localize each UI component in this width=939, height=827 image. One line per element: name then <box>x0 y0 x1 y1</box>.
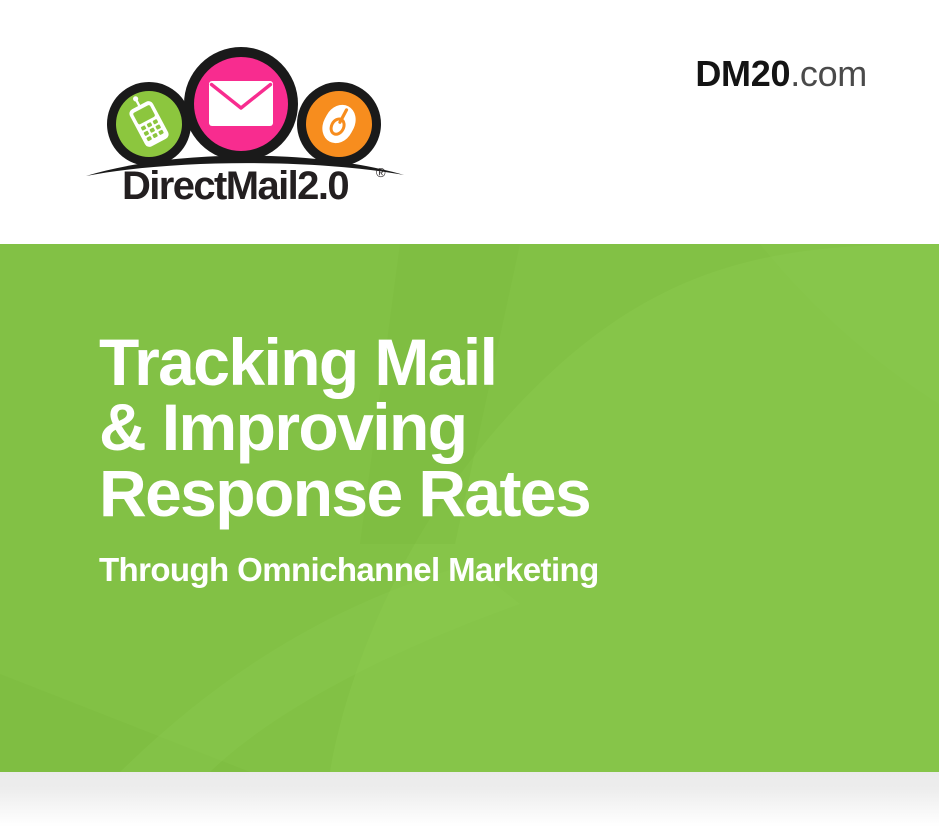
hero-title-line-2: & Improving <box>99 395 859 460</box>
footer-band <box>0 772 939 827</box>
directmail20-logo[interactable]: DirectMail2.0 ® <box>84 32 406 202</box>
hero-title-line-1: Tracking Mail <box>99 330 859 395</box>
mobile-phone-icon <box>107 82 191 166</box>
hero-title: Tracking Mail & Improving Response Rates <box>99 330 859 526</box>
hero-content: Tracking Mail & Improving Response Rates… <box>99 330 859 588</box>
logo-registered-mark: ® <box>376 165 386 180</box>
dm20-brand-light: .com <box>790 53 867 94</box>
dm20-brand-strong: DM20 <box>695 53 790 94</box>
envelope-icon <box>184 47 298 161</box>
page-header: DirectMail2.0 ® DM20.com <box>0 0 939 244</box>
logo-graphic: DirectMail2.0 ® <box>84 32 406 202</box>
hero-title-line-3: Response Rates <box>99 461 859 526</box>
logo-wordmark-text: DirectMail2.0 <box>122 164 348 202</box>
hero-banner: Tracking Mail & Improving Response Rates… <box>0 244 939 772</box>
hero-subtitle: Through Omnichannel Marketing <box>99 552 859 588</box>
computer-mouse-icon <box>297 82 381 166</box>
dm20-brand[interactable]: DM20.com <box>695 56 867 92</box>
